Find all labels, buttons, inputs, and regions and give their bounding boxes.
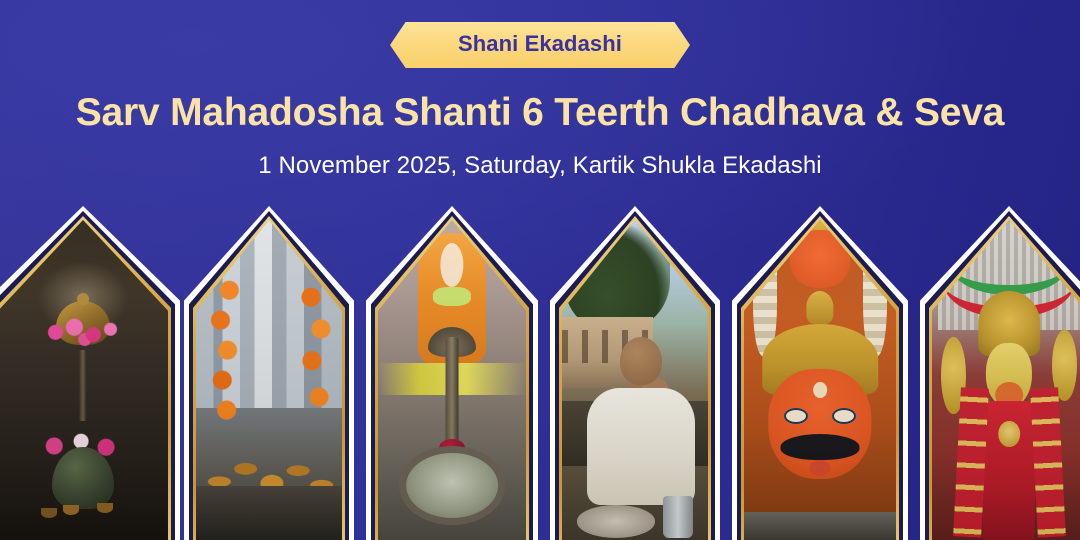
teerth-card-6 [920, 206, 1080, 540]
card-gold-border-1 [0, 216, 171, 540]
teerth-card-3 [366, 206, 538, 540]
teerth-card-5 [732, 206, 908, 540]
priest-seva-at-ghat-photo [562, 220, 708, 540]
teerth-card-4 [550, 206, 720, 540]
card-gold-border-5 [741, 216, 899, 540]
shivling-kalash-shrine-photo [0, 220, 168, 540]
teerth-card-2 [184, 206, 354, 540]
nag-shivling-deity-photo [378, 220, 526, 540]
card-gap-6 [925, 211, 1080, 540]
card-gold-border-4 [559, 216, 711, 540]
card-gap-5 [737, 211, 903, 540]
teerth-image-strip [0, 0, 1080, 540]
promotional-banner: Shani Ekadashi Sarv Mahadosha Shanti 6 T… [0, 0, 1080, 540]
card-gap-2 [189, 211, 349, 540]
card-gold-border-3 [375, 216, 529, 540]
kaal-bhairav-idol-photo [744, 220, 896, 540]
card-gold-border-6 [929, 216, 1080, 540]
card-gap-1 [0, 211, 175, 540]
card-gap-4 [555, 211, 715, 540]
hanuman-idol-photo [932, 220, 1080, 540]
teerth-card-1 [0, 206, 180, 540]
card-gap-3 [371, 211, 533, 540]
marigold-pillars-lamps-photo [196, 220, 342, 540]
card-gold-border-2 [193, 216, 345, 540]
